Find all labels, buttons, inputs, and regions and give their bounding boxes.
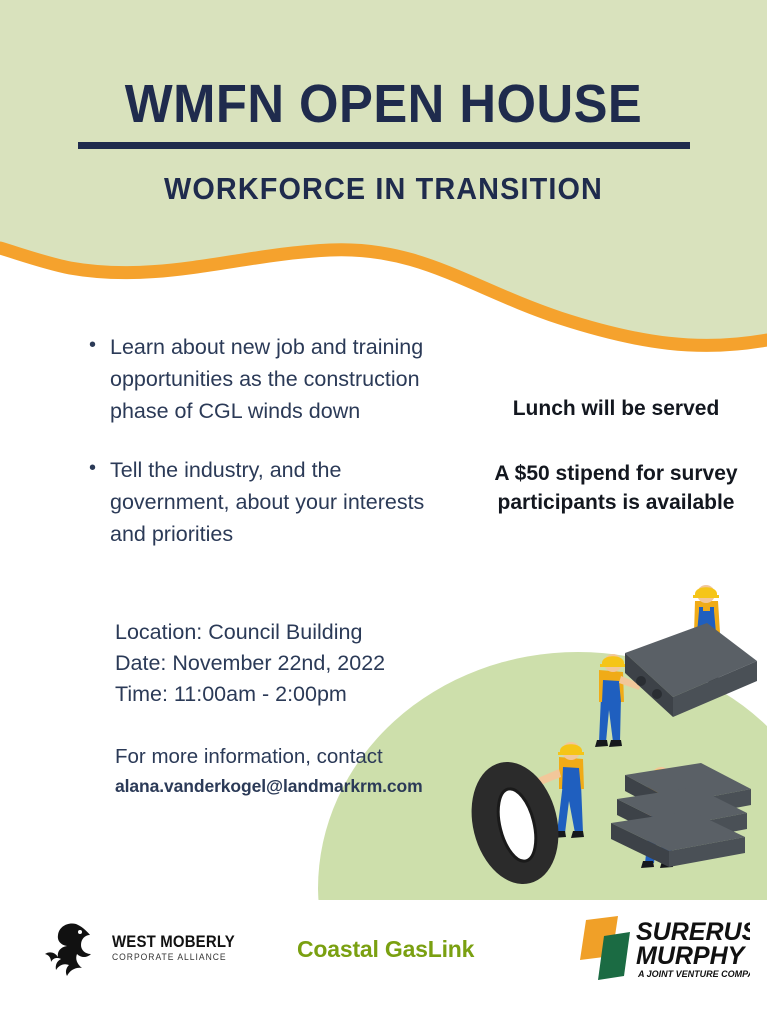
list-item: Tell the industry, and the government, a…	[110, 455, 444, 550]
murphy-text: MURPHY	[636, 942, 747, 970]
poster-canvas: WMFN OPEN HOUSE WORKFORCE IN TRANSITION …	[0, 0, 767, 1024]
footer-logos: WEST MOBERLY CORPORATE ALLIANCE Coastal …	[0, 900, 767, 1024]
beam-stack	[611, 763, 751, 867]
event-details: Location: Council Building Date: Novembe…	[115, 617, 385, 711]
notes-section: Lunch will be served A $50 stipend for s…	[476, 395, 756, 518]
contact-block: For more information, contact alana.vand…	[115, 742, 423, 799]
bullet-list: Learn about new job and training opportu…	[84, 332, 444, 551]
concrete-slab	[625, 623, 757, 717]
title-underline	[78, 142, 690, 149]
west-moberly-logo: WEST MOBERLY CORPORATE ALLIANCE	[40, 918, 252, 978]
construction-workers-illustration	[455, 575, 767, 885]
note-lunch: Lunch will be served	[476, 395, 756, 424]
contact-email[interactable]: alana.vanderkogel@landmarkrm.com	[115, 774, 423, 799]
page-subtitle: WORKFORCE IN TRANSITION	[27, 171, 740, 207]
surerus-murphy-logo: SURERUS MURPHY A JOINT VENTURE COMPANY	[578, 912, 750, 984]
swan-icon	[40, 918, 102, 978]
contact-prompt: For more information, contact	[115, 745, 383, 768]
coastal-gaslink-logo: Coastal GasLink	[297, 936, 474, 963]
west-moberly-name: WEST MOBERLY	[112, 933, 235, 950]
joint-venture-text: A JOINT VENTURE COMPANY	[637, 969, 750, 979]
list-item: Learn about new job and training opportu…	[110, 332, 444, 427]
west-moberly-subtitle: CORPORATE ALLIANCE	[112, 953, 238, 963]
detail-date: Date: November 22nd, 2022	[115, 648, 385, 679]
detail-time: Time: 11:00am - 2:00pm	[115, 679, 385, 710]
bullet-section: Learn about new job and training opportu…	[84, 332, 444, 551]
note-stipend: A $50 stipend for survey participants is…	[476, 460, 756, 518]
header-text-group: WMFN OPEN HOUSE WORKFORCE IN TRANSITION	[0, 0, 767, 207]
detail-location: Location: Council Building	[115, 617, 385, 648]
page-title: WMFN OPEN HOUSE	[23, 0, 744, 133]
